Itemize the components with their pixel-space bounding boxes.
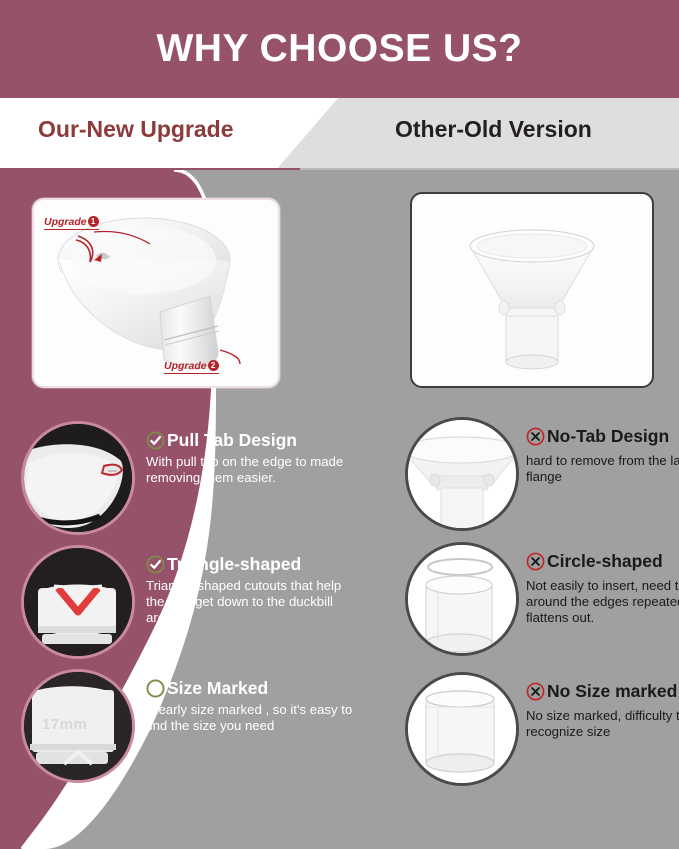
green-check-circle-icon: [146, 679, 165, 698]
feature-text-left-3: Size Marked Clearly size marked , so it'…: [146, 678, 361, 734]
feature-thumb-left-1: [24, 424, 132, 532]
hero-card-old: [410, 192, 654, 388]
feature-title-left-3: Size Marked: [146, 678, 361, 699]
feature-desc-left-3: Clearly size marked , so it's easy to fi…: [146, 702, 361, 734]
red-cross-circle-icon: [526, 427, 545, 446]
feature-title-left-2: Triangle-shaped: [146, 554, 361, 575]
feature-text-right-2: Circle-shaped Not easily to insert, need…: [526, 551, 679, 626]
feature-desc-left-2: Triangle-shaped cutouts that help the mi…: [146, 578, 361, 626]
column-header-row: Our-New Upgrade Other-Old Version: [0, 98, 679, 170]
feature-text-left-1: Pull Tab Design With pull tab on the edg…: [146, 430, 361, 486]
column-caption-right: Other-Old Version: [395, 116, 592, 143]
annotation-upgrade-1: Upgrade1: [44, 216, 99, 230]
feature-row-left-3: 17mm Size Marked Clearly size marked , s…: [24, 672, 354, 784]
feature-title-left-1: Pull Tab Design: [146, 430, 361, 451]
feature-title-right-2: Circle-shaped: [526, 551, 679, 572]
feature-thumb-right-2: [408, 545, 516, 653]
feature-desc-right-2: Not easily to insert, need to press arou…: [526, 578, 679, 626]
header-banner: WHY CHOOSE US?: [0, 0, 679, 98]
red-cross-circle-icon: [526, 552, 545, 571]
infographic-root: WHY CHOOSE US? Our-New Upgrade Other-Old…: [0, 0, 679, 849]
annotation-badge-2: 2: [208, 360, 219, 371]
feature-row-right-2: Circle-shaped Not easily to insert, need…: [408, 545, 676, 663]
feature-thumb-right-3: [408, 675, 516, 783]
feature-title-right-1: No-Tab Design: [526, 426, 679, 447]
feature-text-right-1: No-Tab Design hard to remove from the la…: [526, 426, 679, 485]
feature-row-left-2: Triangle-shaped Triangle-shaped cutouts …: [24, 548, 354, 660]
feature-title-right-3: No Size marked: [526, 681, 679, 702]
column-caption-left: Our-New Upgrade: [38, 116, 234, 143]
comparison-body: Upgrade1 Upgrade2: [0, 170, 679, 849]
feature-desc-right-3: No size marked, difficulty to recognize …: [526, 708, 679, 740]
feature-row-right-1: No-Tab Design hard to remove from the la…: [408, 420, 676, 532]
annotation-badge-1: 1: [88, 216, 99, 227]
feature-thumb-left-2: [24, 548, 132, 656]
old-flange-illustration: [412, 194, 652, 386]
feature-desc-left-1: With pull tab on the edge to made removi…: [146, 454, 361, 486]
green-check-circle-icon: [146, 431, 165, 450]
size-marking-text: 17mm: [42, 716, 87, 733]
page-title: WHY CHOOSE US?: [157, 27, 523, 71]
hero-card-new: Upgrade1 Upgrade2: [32, 198, 280, 388]
red-cross-circle-icon: [526, 682, 545, 701]
feature-row-right-3: No Size marked No size marked, difficult…: [408, 675, 676, 787]
green-check-circle-icon: [146, 555, 165, 574]
feature-thumb-right-1: [408, 420, 516, 528]
feature-row-left-1: Pull Tab Design With pull tab on the edg…: [24, 424, 354, 536]
feature-thumb-left-3: 17mm: [24, 672, 132, 780]
annotation-upgrade-2: Upgrade2: [164, 360, 219, 374]
feature-text-right-3: No Size marked No size marked, difficult…: [526, 681, 679, 740]
feature-desc-right-1: hard to remove from the larger flange: [526, 453, 679, 485]
feature-text-left-2: Triangle-shaped Triangle-shaped cutouts …: [146, 554, 361, 626]
